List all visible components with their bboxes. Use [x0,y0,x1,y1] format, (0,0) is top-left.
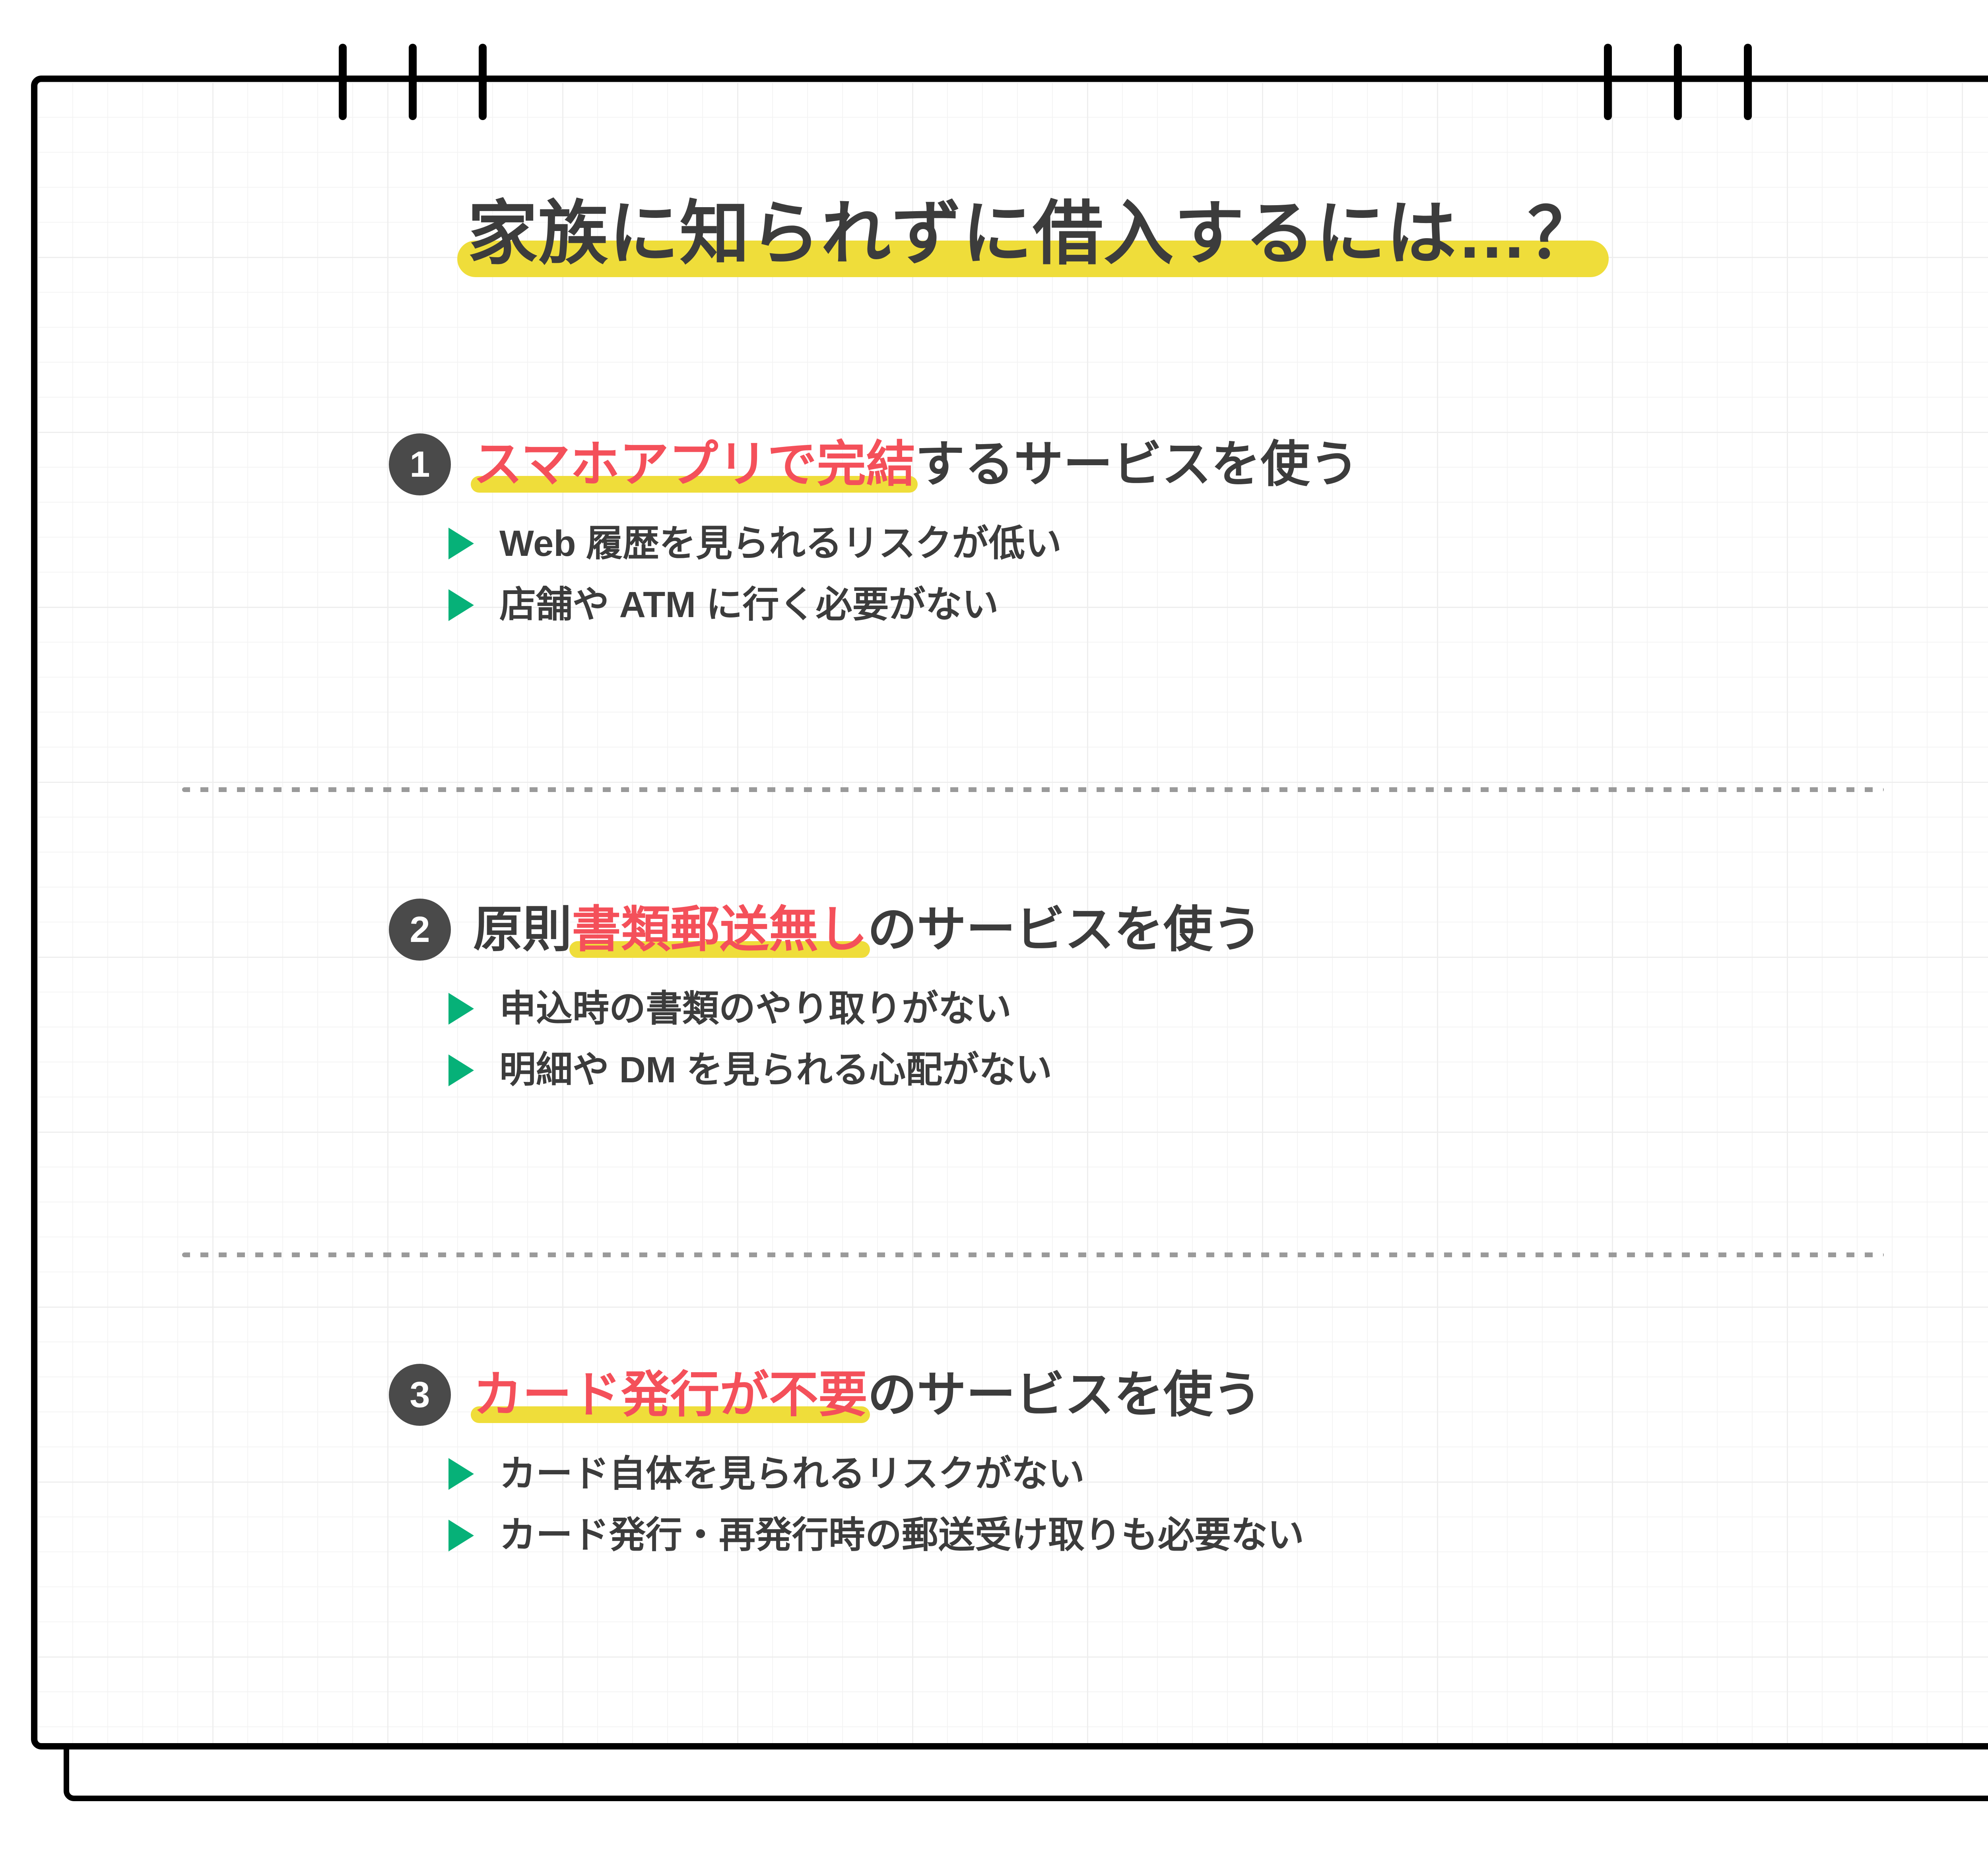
section-2-heading: 2 原則書類郵送無しのサービスを使う [31,899,1988,961]
bullet-text: 明細や DM を見られる心配がない [499,1048,1052,1092]
binder-tick-icon-left-1 [339,44,347,120]
bullet-text: 申込時の書類のやり取りがない [499,987,1011,1031]
binder-tick-icon-right-3 [1744,44,1752,120]
title-text: 家族に知られずに借入するには…？ [468,195,1598,273]
section-2-heading-suffix: のサービスを使う [868,902,1262,957]
list-item: 明細や DM を見られる心配がない [448,1048,1988,1092]
section-divider-2 [182,1252,1884,1257]
list-item: 店舗や ATM に行く必要がない [448,583,1988,627]
binder-tick-icon-right-1 [1604,44,1612,120]
section-2-heading-highlight: 書類郵送無し [572,901,868,959]
bullet-text: 店舗や ATM に行く必要がない [499,583,999,627]
section-1-heading-suffix: するサービスを使う [915,437,1359,492]
section-2-number-badge: 2 [389,899,451,961]
triangle-bullet-icon [448,589,474,621]
binder-tick-icon-right-2 [1674,44,1682,120]
bullet-text: カード発行・再発行時の郵送受け取りも必要ない [499,1513,1304,1557]
list-item: カード自体を見られるリスクがない [448,1452,1988,1496]
triangle-bullet-icon [448,993,474,1025]
section-3-heading-suffix: のサービスを使う [868,1367,1262,1422]
triangle-bullet-icon [448,528,474,559]
section-2-heading-text: 原則書類郵送無しのサービスを使う [473,901,1262,959]
section-3-heading-text: カード発行が不要のサービスを使う [473,1366,1262,1424]
infographic-canvas: 家族に知られずに借入するには…？ 1 スマホアプリで完結するサービスを使う We… [0,0,1988,1862]
section-1-bullet-list: Web 履歴を見られるリスクが低い 店舗や ATM に行く必要がない [31,522,1988,627]
triangle-bullet-icon [448,1054,474,1086]
section-1-number-badge: 1 [389,433,451,495]
section-3-heading-highlight: カード発行が不要 [473,1366,868,1424]
section-3-number-badge: 3 [389,1364,451,1426]
page-title: 家族に知られずに借入するには…？ [31,195,1988,280]
list-item: Web 履歴を見られるリスクが低い [448,522,1988,565]
list-item: 申込時の書類のやり取りがない [448,987,1988,1031]
section-1-heading-text: スマホアプリで完結するサービスを使う [473,435,1359,493]
list-item: カード発行・再発行時の郵送受け取りも必要ない [448,1513,1988,1557]
binder-tick-icon-left-3 [479,44,487,120]
bullet-text: カード自体を見られるリスクがない [499,1452,1085,1496]
section-2-heading-prefix: 原則 [473,902,572,957]
triangle-bullet-icon [448,1520,474,1551]
bullet-text: Web 履歴を見られるリスクが低い [499,522,1062,565]
section-3-heading: 3 カード発行が不要のサービスを使う [31,1364,1988,1426]
section-1-heading-highlight: スマホアプリで完結 [473,435,915,493]
section-2-bullet-list: 申込時の書類のやり取りがない 明細や DM を見られる心配がない [31,987,1988,1092]
section-1: 1 スマホアプリで完結するサービスを使う Web 履歴を見られるリスクが低い 店… [31,433,1988,645]
binder-tick-icon-left-2 [409,44,417,120]
section-divider-1 [182,787,1884,792]
section-2: 2 原則書類郵送無しのサービスを使う 申込時の書類のやり取りがない 明細や DM… [31,899,1988,1110]
section-3-bullet-list: カード自体を見られるリスクがない カード発行・再発行時の郵送受け取りも必要ない [31,1452,1988,1557]
content-area: 家族に知られずに借入するには…？ 1 スマホアプリで完結するサービスを使う We… [31,76,1988,1749]
triangle-bullet-icon [448,1458,474,1490]
section-3: 3 カード発行が不要のサービスを使う カード自体を見られるリスクがない カード発… [31,1364,1988,1575]
section-1-heading: 1 スマホアプリで完結するサービスを使う [31,433,1988,495]
